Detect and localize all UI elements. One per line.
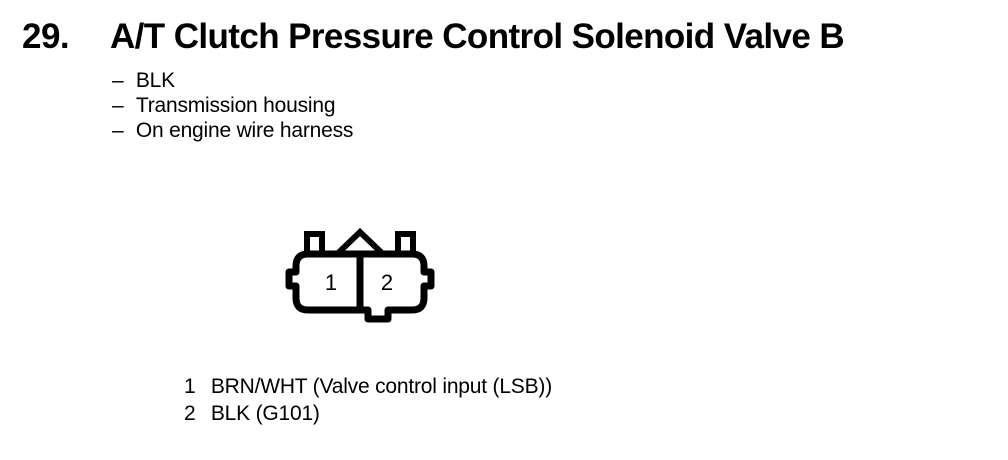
legend-pin-description: BRN/WHT (Valve control input (LSB)) (211, 373, 552, 400)
legend-pin-description: BLK (G101) (211, 400, 320, 427)
document-page: 29. A/T Clutch Pressure Control Solenoid… (0, 0, 1008, 460)
connector-attribute-list: – BLK – Transmission housing – On engine… (112, 68, 712, 143)
attribute-label: Transmission housing (136, 93, 335, 118)
legend-row: 1 BRN/WHT (Valve control input (LSB)) (184, 373, 884, 400)
heading-item-number: 29. (22, 14, 69, 60)
dash-bullet-icon: – (112, 93, 130, 118)
attribute-row: – On engine wire harness (112, 118, 712, 143)
dash-bullet-icon: – (112, 118, 130, 143)
attribute-label: On engine wire harness (136, 118, 353, 143)
attribute-row: – BLK (112, 68, 712, 93)
connector-outline-graphic (276, 224, 444, 332)
pin-legend: 1 BRN/WHT (Valve control input (LSB)) 2 … (184, 373, 884, 427)
attribute-row: – Transmission housing (112, 93, 712, 118)
attribute-label: BLK (136, 68, 175, 93)
dash-bullet-icon: – (112, 68, 130, 93)
page-heading: 29. A/T Clutch Pressure Control Solenoid… (0, 14, 1008, 60)
connector-diagram: 1 2 (276, 224, 444, 332)
legend-pin-number: 2 (184, 400, 205, 427)
legend-row: 2 BLK (G101) (184, 400, 884, 427)
page-title: A/T Clutch Pressure Control Solenoid Val… (110, 14, 844, 60)
legend-pin-number: 1 (184, 373, 205, 400)
